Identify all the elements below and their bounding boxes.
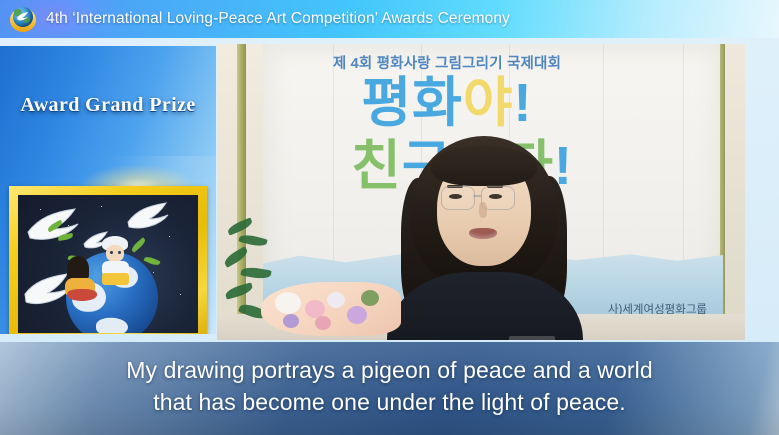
- shirt-logo: [509, 336, 555, 340]
- artwork-image: [18, 195, 198, 333]
- globe-dove-logo-icon: [10, 6, 36, 32]
- child-figure: [65, 256, 97, 298]
- headline-seg: !: [514, 73, 533, 133]
- headline-seg: 평화: [361, 73, 462, 133]
- headline-seg: 야: [463, 73, 514, 133]
- dove-icon: [16, 11, 30, 23]
- subtitle-line-2: that has become one under the light of p…: [0, 386, 779, 418]
- artwork-frame: [9, 186, 207, 334]
- banner-headline-line1: 평화야!: [217, 76, 677, 130]
- header-bar: 4th ‘International Loving-Peace Art Comp…: [0, 0, 779, 38]
- award-panel: Award Grand Prize: [0, 46, 216, 334]
- page-title: 4th ‘International Loving-Peace Art Comp…: [46, 10, 510, 28]
- dove-icon: [126, 201, 172, 233]
- subtitle-bar: My drawing portrays a pigeon of peace an…: [0, 342, 779, 435]
- screenshot-root: 4th ‘International Loving-Peace Art Comp…: [0, 0, 779, 435]
- subtitle-text: My drawing portrays a pigeon of peace an…: [0, 354, 779, 418]
- subtitle-line-1: My drawing portrays a pigeon of peace an…: [0, 354, 779, 386]
- award-title: Award Grand Prize: [0, 94, 216, 117]
- glasses-icon: [441, 186, 475, 210]
- speaker: [393, 136, 575, 340]
- video-feed[interactable]: 제 4회 평화사랑 그림그리기 국제대회 평화야! 친구하자! 일 시 : 20…: [217, 44, 745, 340]
- child-figure: [97, 236, 131, 286]
- banner-title: 제 4회 평화사랑 그림그리기 국제대회: [217, 52, 677, 73]
- flower-bouquet: [261, 276, 411, 340]
